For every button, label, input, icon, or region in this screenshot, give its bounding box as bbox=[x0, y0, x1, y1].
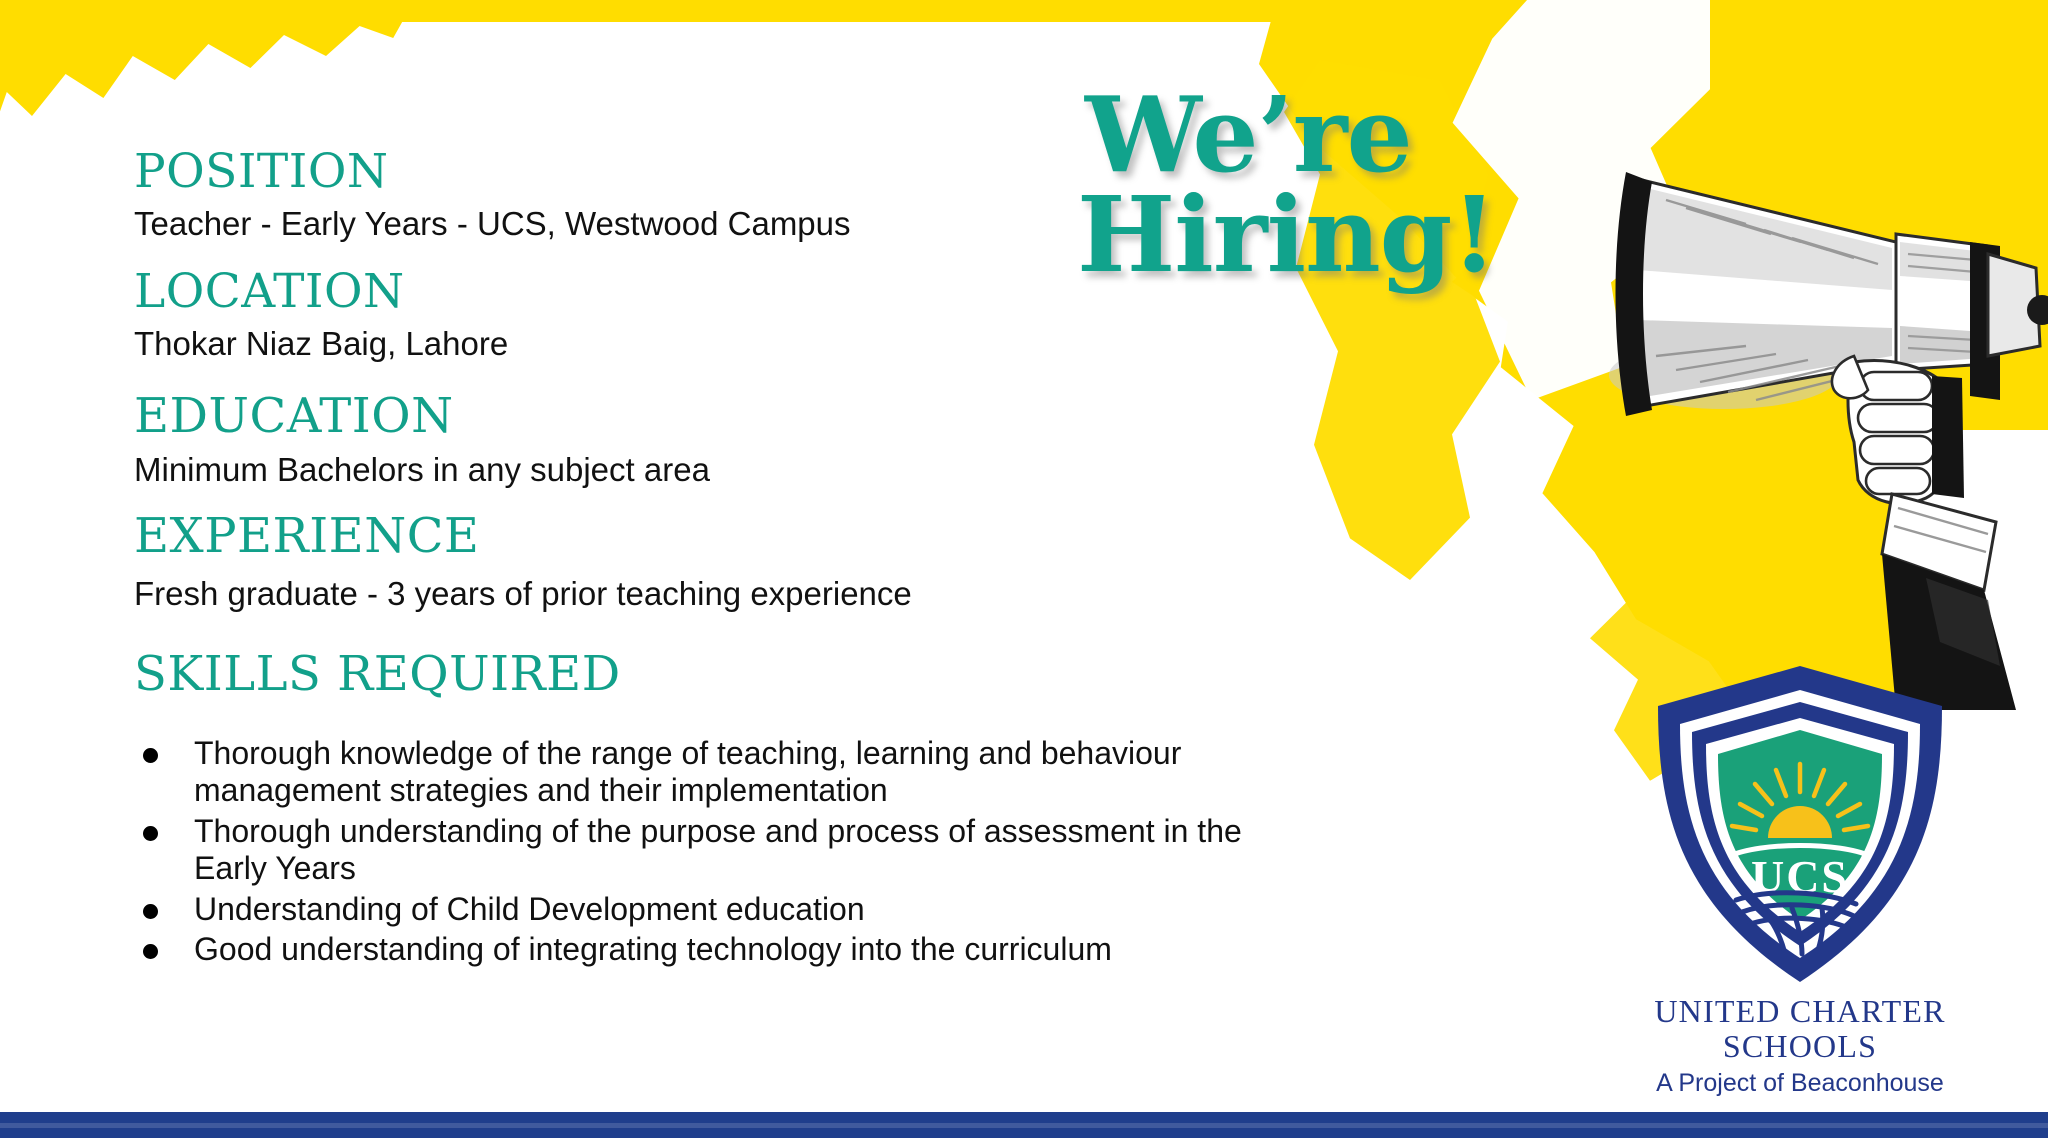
skill-text: Thorough knowledge of the range of teach… bbox=[194, 735, 1181, 808]
logo-name-line-2: SCHOOLS bbox=[1620, 1029, 1980, 1064]
ucs-logo: UCS UNITED CHARTER SCHOOLS A Project of … bbox=[1620, 660, 1980, 1098]
list-item: Thorough knowledge of the range of teach… bbox=[134, 735, 1244, 810]
job-details-column: POSITION Teacher - Early Years - UCS, We… bbox=[0, 0, 1260, 1138]
skill-text: Understanding of Child Development educa… bbox=[194, 891, 865, 927]
education-heading: EDUCATION bbox=[134, 392, 454, 440]
bullet-icon bbox=[143, 944, 158, 959]
bottom-bar-highlight bbox=[0, 1123, 2048, 1128]
bullet-icon bbox=[143, 826, 158, 841]
logo-tagline: A Project of Beaconhouse bbox=[1620, 1069, 1980, 1098]
hiring-poster: We’re Hiring! bbox=[0, 0, 2048, 1138]
headline: We’re Hiring! bbox=[1085, 85, 1496, 285]
skill-text: Good understanding of integrating techno… bbox=[194, 931, 1112, 967]
logo-name: UNITED CHARTER SCHOOLS bbox=[1620, 994, 1980, 1063]
list-item: Thorough understanding of the purpose an… bbox=[134, 813, 1244, 888]
bullet-icon bbox=[143, 748, 158, 763]
position-heading: POSITION bbox=[134, 148, 389, 195]
experience-heading: EXPERIENCE bbox=[134, 512, 479, 560]
location-heading: LOCATION bbox=[134, 268, 405, 315]
list-item: Good understanding of integrating techno… bbox=[134, 931, 1244, 968]
list-item: Understanding of Child Development educa… bbox=[134, 891, 1244, 928]
megaphone-icon bbox=[1596, 150, 2048, 710]
ucs-shield-icon: UCS bbox=[1650, 660, 1950, 990]
megaphone-illustration bbox=[1596, 150, 2048, 710]
education-value: Minimum Bachelors in any subject area bbox=[134, 451, 710, 490]
position-value: Teacher - Early Years - UCS, Westwood Ca… bbox=[134, 205, 851, 244]
bullet-icon bbox=[143, 904, 158, 919]
headline-line-2: Hiring! bbox=[1077, 185, 1496, 285]
location-value: Thokar Niaz Baig, Lahore bbox=[134, 325, 508, 364]
skills-list: Thorough knowledge of the range of teach… bbox=[134, 735, 1244, 972]
skill-text: Thorough understanding of the purpose an… bbox=[194, 813, 1242, 886]
skills-heading: SKILLS REQUIRED bbox=[134, 650, 621, 698]
logo-name-line-1: UNITED CHARTER bbox=[1620, 994, 1980, 1029]
experience-value: Fresh graduate - 3 years of prior teachi… bbox=[134, 575, 912, 614]
bottom-navy-bar bbox=[0, 1112, 2048, 1138]
